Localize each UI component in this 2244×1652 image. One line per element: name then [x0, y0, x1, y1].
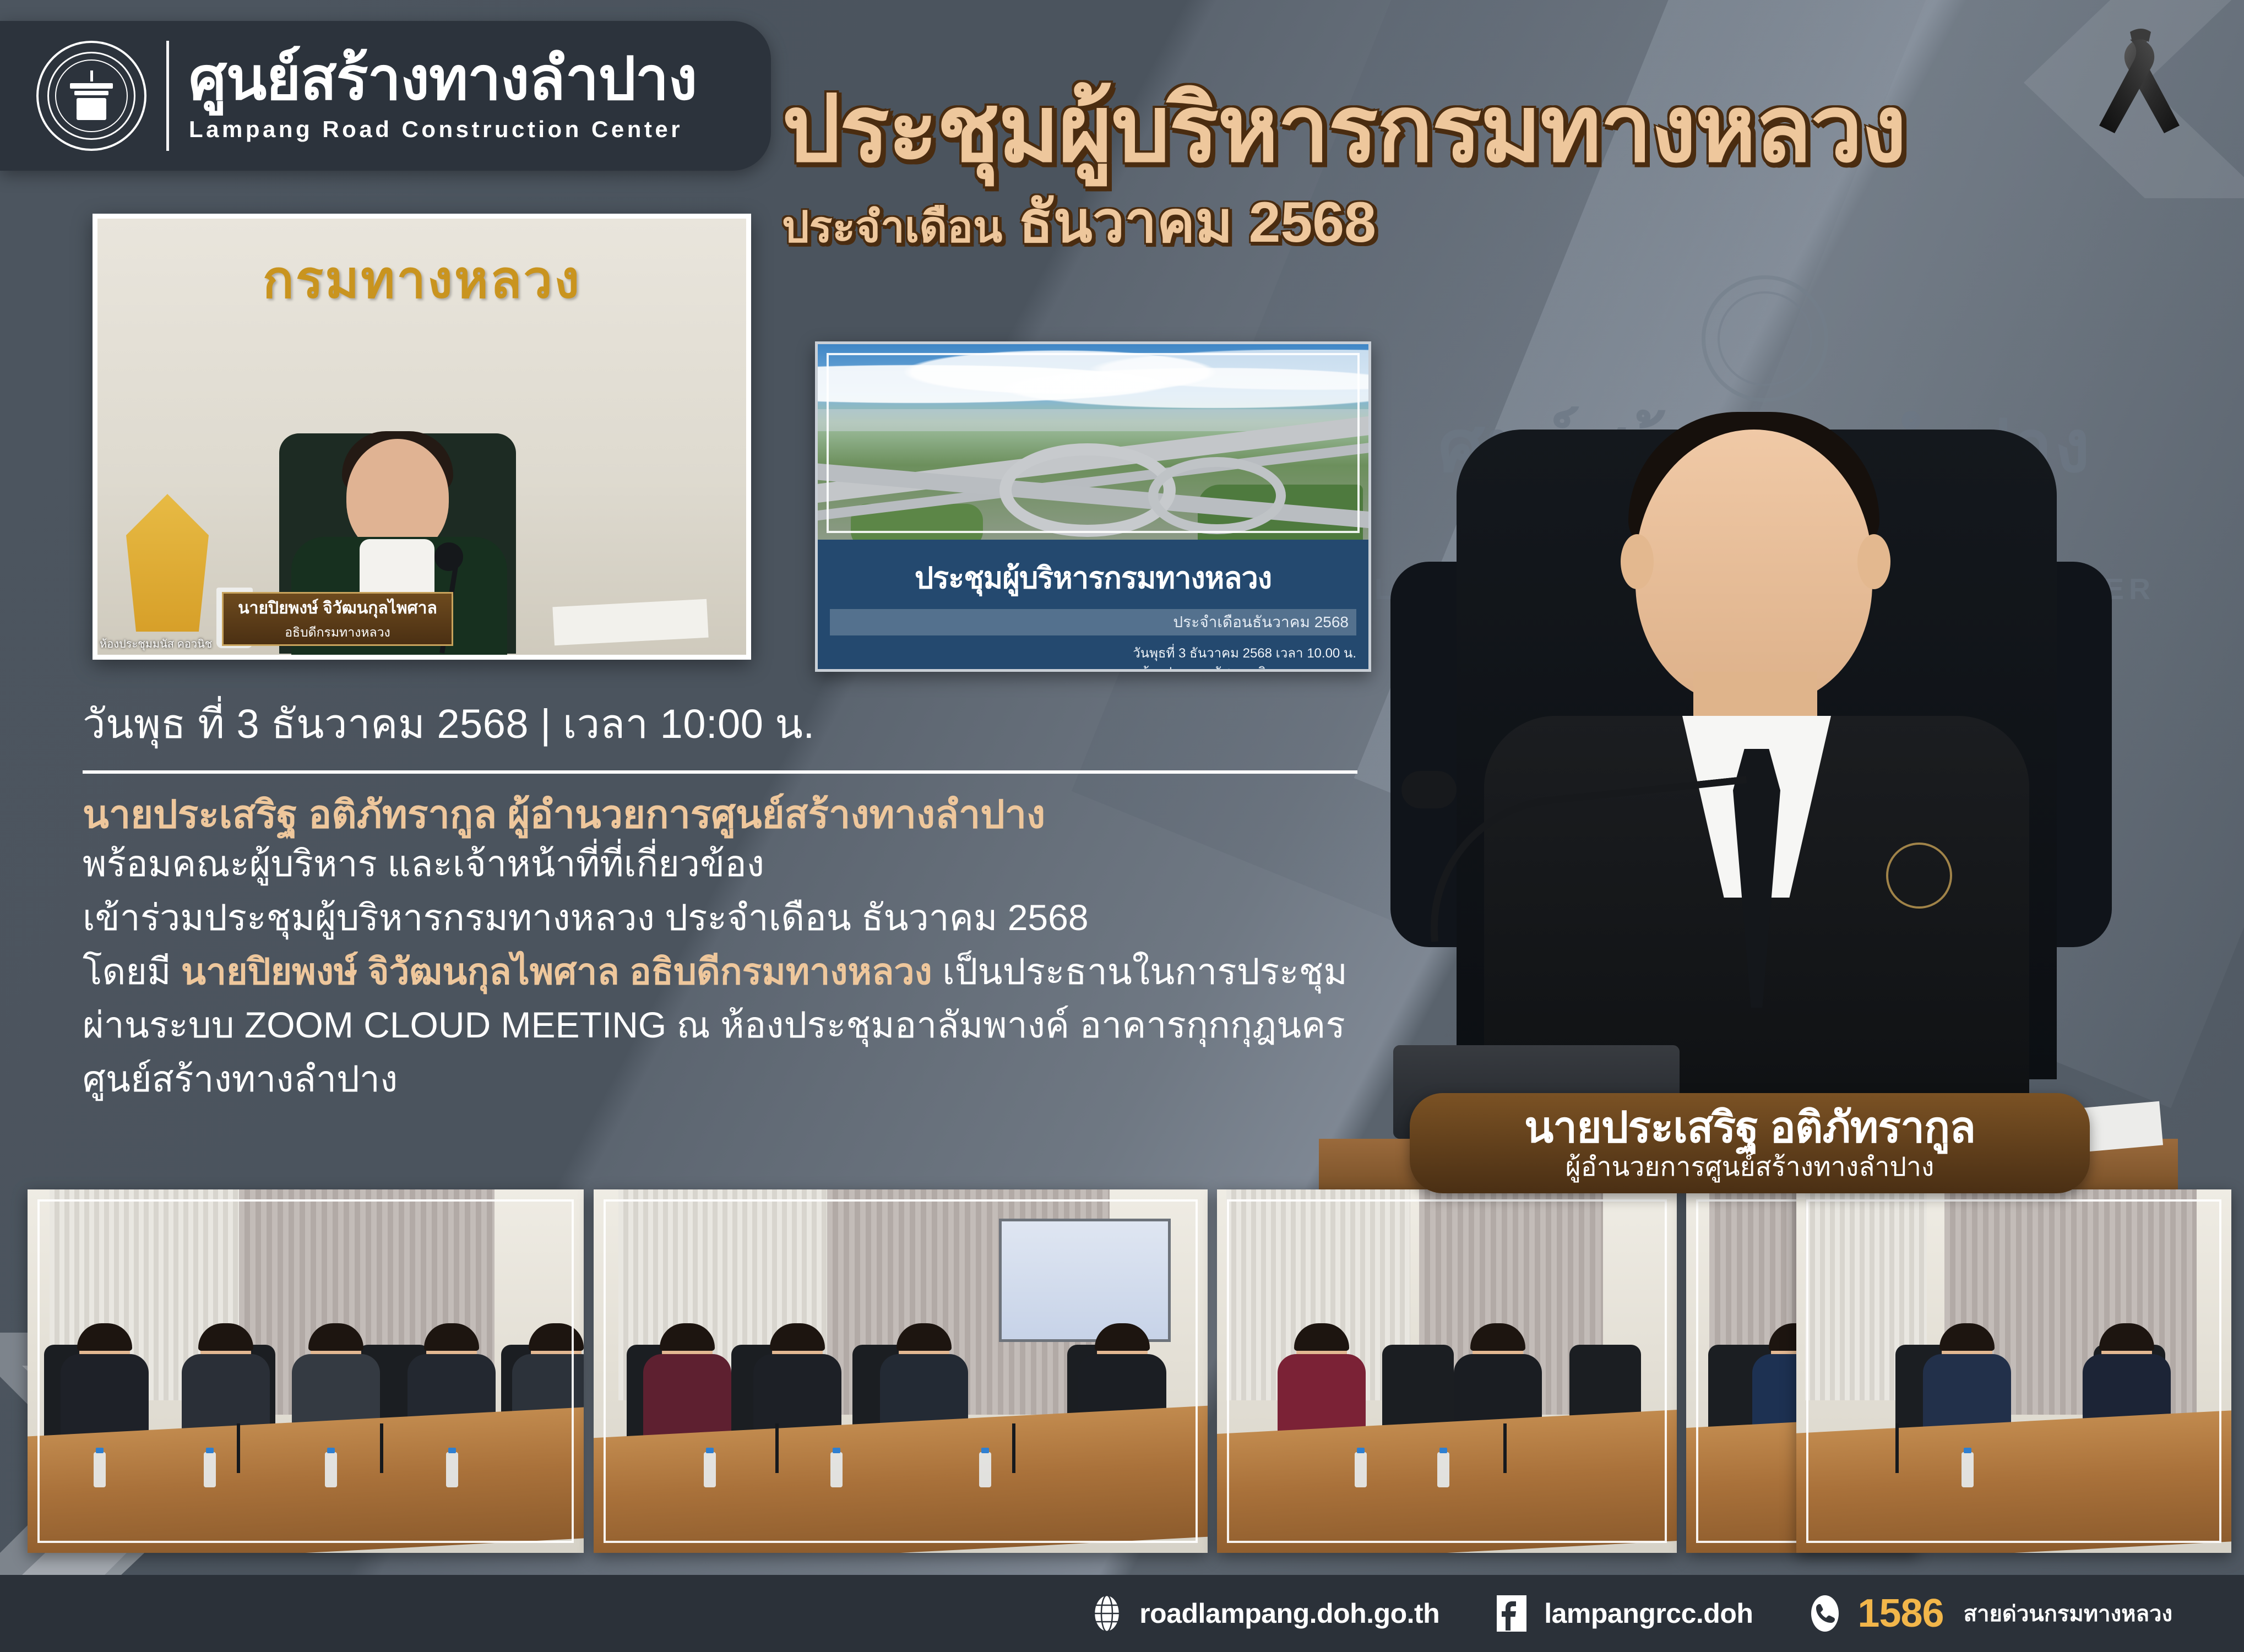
strip-photo-5: [1796, 1189, 2231, 1553]
footer-phone-label: สายด่วนกรมทางหลวง: [1964, 1596, 2172, 1631]
director-general-video-photo: กรมทางหลวง นายปิยพงษ์ จิวัฒนกุลไพศาล อธิ…: [93, 214, 751, 660]
slide-meta-line1: วันพุธที่ 3 ธันวาคม 2568 เวลา 10.00 น.: [830, 644, 1356, 664]
seal-core-glyph: [68, 70, 115, 121]
event-date-line: วันพุธ ที่ 3 ธันวาคม 2568 | เวลา 10:00 น…: [83, 691, 1421, 756]
poster-title-group: ประชุมผู้บริหารกรมทางหลวง ประจำเดือน ธัน…: [782, 83, 1905, 251]
header-logo-pill: ศูนย์สร้างทางลำปาง Lampang Road Construc…: [0, 21, 771, 171]
poster-title-main: ประชุมผู้บริหารกรมทางหลวง: [782, 83, 1905, 175]
slide-title: ประชุมผู้บริหารกรมทางหลวง: [830, 554, 1356, 601]
body-lead-line: นายประเสริฐ อติภัทรากูล ผู้อำนวยการศูนย์…: [83, 792, 1421, 837]
strip-photo-1: [28, 1189, 584, 1553]
logo-text-group: ศูนย์สร้างทางลำปาง Lampang Road Construc…: [189, 49, 697, 143]
footer-phone-item[interactable]: 1586 สายด่วนกรมทางหลวง: [1806, 1591, 2172, 1636]
dg-nameplate-name: นายปิยพงษ์ จิวัฒนกุลไพศาล: [238, 595, 437, 621]
slide-subtitle: ประจำเดือนธันวาคม 2568: [1173, 610, 1349, 634]
projector-screen: [999, 1219, 1171, 1342]
phone-icon: [1806, 1594, 1844, 1633]
slide-text-panel: ประชุมผู้บริหารกรมทางหลวง ประจำเดือนธันว…: [818, 540, 1368, 672]
slide-meta: วันพุธที่ 3 ธันวาคม 2568 เวลา 10.00 น. ณ…: [830, 644, 1356, 672]
poster-title-sub-month: ธันวาคม 2568: [1018, 191, 1376, 254]
body-line-4-b: เป็นประธานในการประชุม: [932, 951, 1348, 992]
footer-phone-number: 1586: [1857, 1591, 1943, 1636]
body-line-4-a: โดยมี: [83, 951, 181, 992]
director-name-badge: นายประเสริฐ อติภัทรากูล ผู้อำนวยการศูนย์…: [1410, 1093, 2090, 1193]
org-name-en: Lampang Road Construction Center: [189, 116, 697, 143]
slide-meta-line2: ณ ห้องประชุมมนัส คอวนิช กรมทางหลวง: [830, 664, 1356, 672]
footer-facebook-text: lampangrcc.doh: [1544, 1597, 1753, 1629]
poster-title-sub: ประจำเดือน ธันวาคม 2568: [782, 194, 1905, 251]
body-line-5: ผ่านระบบ ZOOM CLOUD MEETING ณ ห้องประชุม…: [83, 998, 1421, 1052]
dg-nameplate-title: อธิบดีกรมทางหลวง: [285, 623, 390, 643]
dg-photo-corner-caption: ห้องประชุมมนัส คอวนิช: [100, 635, 212, 653]
dg-photo-wall-text: กรมทางหลวง: [97, 238, 746, 320]
footer-facebook-item[interactable]: lampangrcc.doh: [1492, 1594, 1753, 1633]
org-name-th: ศูนย์สร้างทางลำปาง: [189, 49, 697, 108]
facebook-icon: [1492, 1594, 1531, 1633]
director-portrait-photo: [1319, 330, 2178, 1189]
director-name: นายประเสริฐ อติภัทรากูล: [1524, 1106, 1975, 1149]
body-divider: [83, 770, 1357, 774]
body-line-2: พร้อมคณะผู้บริหาร และเจ้าหน้าที่ที่เกี่ย…: [83, 837, 1421, 891]
poster-root: ศูนย์สร้างทางลำปาง กรมทางหลวง LAMPANG RO…: [0, 0, 2244, 1652]
body-text-block: วันพุธ ที่ 3 ธันวาคม 2568 | เวลา 10:00 น…: [83, 691, 1421, 1106]
jacket-emblem-icon: [1886, 843, 1952, 909]
black-mourning-ribbon-icon: [2087, 23, 2192, 142]
director-position: ผู้อำนวยการศูนย์สร้างทางลำปาง: [1566, 1154, 1935, 1181]
slide-subtitle-band: ประจำเดือนธันวาคม 2568: [830, 609, 1356, 635]
footer-website-item[interactable]: roadlampang.doh.go.th: [1088, 1594, 1439, 1633]
footer-bar: roadlampang.doh.go.th lampangrcc.doh 158…: [0, 1575, 2244, 1652]
bottom-photo-strip: [0, 1189, 2244, 1575]
dg-nameplate: นายปิยพงษ์ จิวัฒนกุลไพศาล อธิบดีกรมทางหล…: [222, 592, 453, 646]
body-line-6: ศูนย์สร้างทางลำปาง: [83, 1052, 1421, 1106]
strip-photo-2: [594, 1189, 1208, 1553]
department-of-highways-seal-icon: [36, 41, 146, 151]
strip-photo-3: [1217, 1189, 1677, 1553]
poster-title-sub-lead: ประจำเดือน: [782, 203, 1002, 251]
globe-icon: [1088, 1594, 1126, 1633]
body-line-4: โดยมี นายปิยพงษ์ จิวัฒนกุลไพศาล อธิบดีกร…: [83, 945, 1421, 999]
body-line-3: เข้าร่วมประชุมผู้บริหารกรมทางหลวง ประจำเ…: [83, 891, 1421, 945]
presentation-slide-thumbnail: ประชุมผู้บริหารกรมทางหลวง ประจำเดือนธันว…: [815, 341, 1371, 672]
body-line-4-highlight: นายปิยพงษ์ จิวัฒนกุลไพศาล อธิบดีกรมทางหล…: [181, 951, 932, 992]
slide-interchange-photo: [818, 344, 1368, 540]
logo-divider: [166, 41, 169, 151]
footer-website-text: roadlampang.doh.go.th: [1139, 1597, 1439, 1629]
